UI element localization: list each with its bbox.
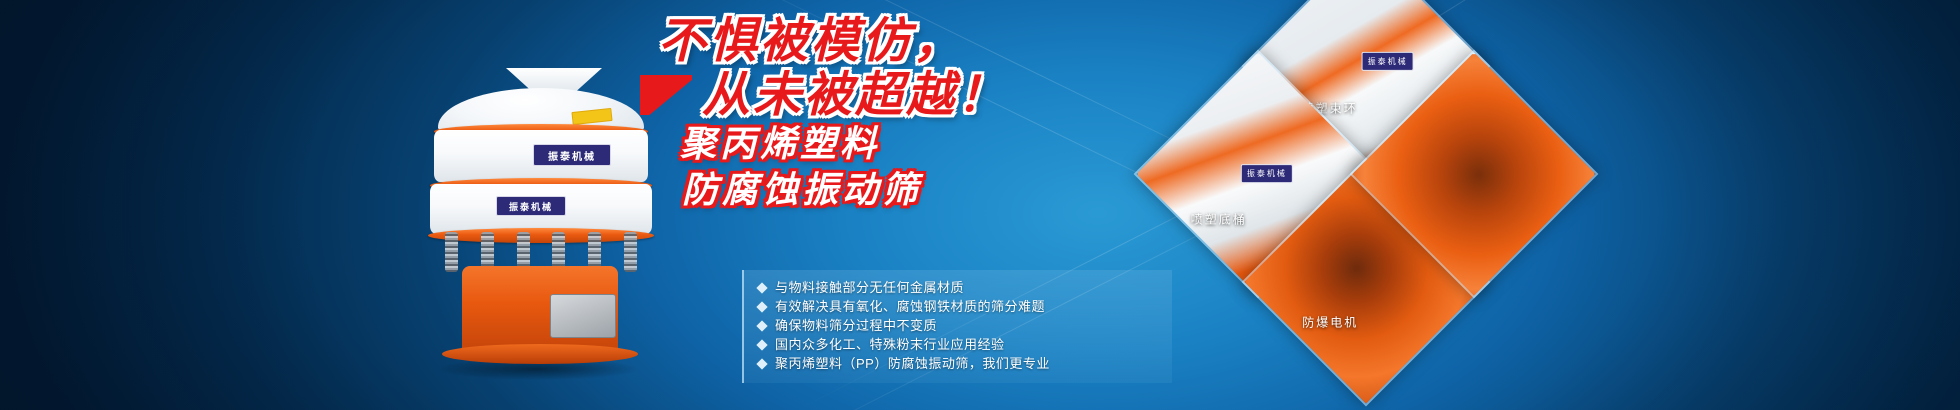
headline-row-2: 从未被超越！ — [640, 68, 1180, 122]
list-item-label: 聚丙烯塑料（PP）防腐蚀振动筛，我们更专业 — [775, 354, 1050, 373]
subheadline-line-2: 防腐蚀振动筛 — [682, 168, 1160, 214]
brand-plate-upper: 振泰机械 — [533, 144, 611, 166]
diamond-bullet-icon — [756, 301, 767, 312]
list-item: 国内众多化工、特殊粉末行业应用经验 — [758, 335, 1172, 354]
list-item: 有效解决具有氧化、腐蚀钢铁材质的筛分难题 — [758, 297, 1172, 316]
brand-mini-plate: 振泰机械 — [1362, 52, 1414, 71]
list-item: 聚丙烯塑料（PP）防腐蚀振动筛，我们更专业 — [758, 354, 1172, 373]
list-item-label: 国内众多化工、特殊粉末行业应用经验 — [775, 335, 1005, 354]
motor-housing — [550, 294, 616, 338]
headline-block: 不惧被模仿， 从未被超越！ — [640, 14, 1180, 122]
subheadline-line-1: 聚丙烯塑料 — [680, 122, 1160, 168]
list-item-label: 有效解决具有氧化、腐蚀钢铁材质的筛分难题 — [775, 297, 1045, 316]
brand-plate-lower: 振泰机械 — [496, 196, 566, 216]
arrow-flag-icon — [640, 75, 692, 115]
headline-row-1: 不惧被模仿， — [640, 14, 1180, 68]
list-item: 确保物料筛分过程中不变质 — [758, 316, 1172, 335]
headline-line-1: 不惧被模仿， — [658, 14, 964, 68]
diamond-bullet-icon — [756, 282, 767, 293]
list-item-label: 与物料接触部分无任何金属材质 — [775, 278, 964, 297]
gallery-caption: 防爆电机 — [1267, 313, 1393, 330]
diamond-bullet-icon — [756, 320, 767, 331]
main-product-image: 振泰机械 振泰机械 — [408, 62, 668, 382]
spring — [624, 232, 637, 272]
list-item-label: 确保物料筛分过程中不变质 — [775, 316, 937, 335]
detail-photo-gallery: 振泰机械 喷塑束环 振泰机械 喷塑底桶 防爆电机 — [1150, 0, 1710, 410]
gallery-caption: 喷塑底桶 — [1157, 210, 1281, 227]
promo-banner: 振泰机械 振泰机械 不惧被模仿， 从未被超越！ 聚丙烯塑料 防腐蚀振动筛 — [0, 0, 1960, 410]
brand-mini-plate: 振泰机械 — [1241, 164, 1293, 183]
diamond-bullet-icon — [756, 339, 767, 350]
spring — [445, 232, 458, 272]
product-base-plate — [442, 344, 638, 364]
list-item: 与物料接触部分无任何金属材质 — [758, 278, 1172, 297]
subheadline-block: 聚丙烯塑料 防腐蚀振动筛 — [680, 122, 1160, 214]
headline-line-2: 从未被超越！ — [702, 68, 1008, 122]
diamond-bullet-icon — [756, 358, 767, 369]
feature-list: 与物料接触部分无任何金属材质 有效解决具有氧化、腐蚀钢铁材质的筛分难题 确保物料… — [742, 270, 1172, 383]
